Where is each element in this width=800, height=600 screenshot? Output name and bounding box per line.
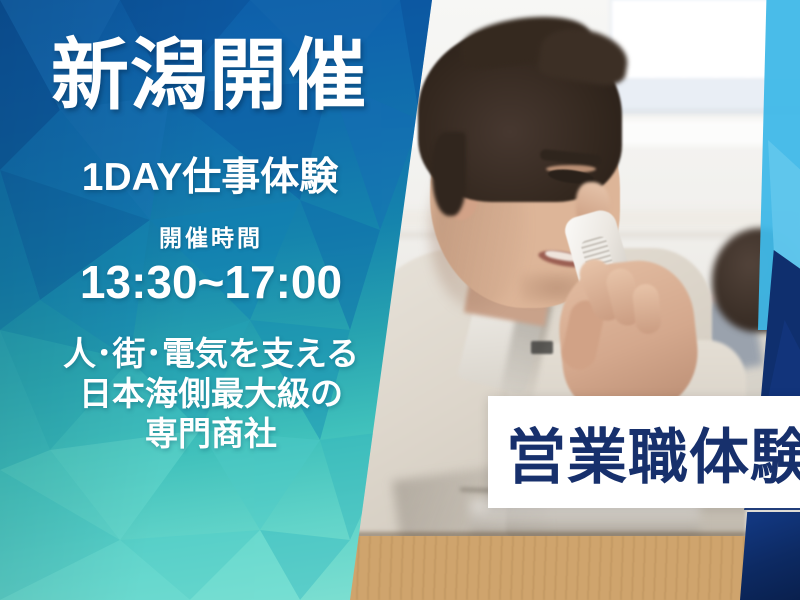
hair-sideburn xyxy=(432,132,466,216)
job-type-badge-label: 営業職体験 xyxy=(488,409,800,496)
jacket-pocket-tab xyxy=(531,341,553,354)
desk-wood-grain xyxy=(336,536,800,600)
corner-shape-navy xyxy=(740,512,800,600)
job-type-badge: 営業職体験 xyxy=(488,396,800,508)
poster-canvas: NEW CAREER 新潟開催 1DAY仕事体験 開催時間 13:30~17:0… xyxy=(0,0,800,600)
